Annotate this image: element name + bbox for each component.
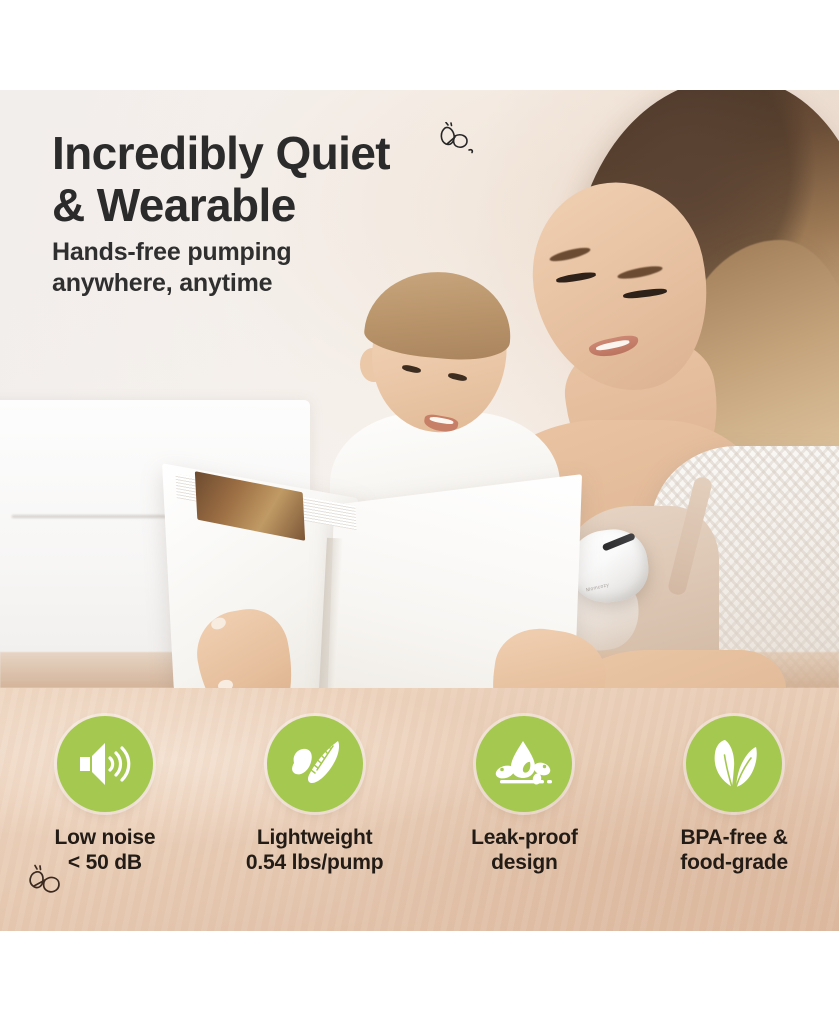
pump-display-slot bbox=[602, 532, 636, 551]
feature-panel: Low noise < 50 dB bbox=[0, 688, 839, 931]
feature-item-bpa-free[interactable]: BPA-free & food-grade bbox=[639, 716, 829, 876]
feature-icon-circle bbox=[267, 716, 363, 812]
butterfly-doodle-icon bbox=[24, 860, 68, 906]
feature-item-leak-proof[interactable]: Leak-proof design bbox=[429, 716, 619, 876]
feature-icon-circle bbox=[686, 716, 782, 812]
butterfly-doodle-icon bbox=[436, 122, 476, 164]
leaf-icon bbox=[706, 737, 762, 791]
product-banner: Momcozy Incredibly Quiet & Wearable Ha bbox=[0, 0, 839, 1024]
headline-block: Incredibly Quiet & Wearable Hands-free p… bbox=[52, 128, 482, 298]
feature-item-lightweight[interactable]: Lightweight 0.54 lbs/pump bbox=[220, 716, 410, 876]
feature-row: Low noise < 50 dB bbox=[0, 716, 839, 876]
page-title: Incredibly Quiet & Wearable bbox=[52, 128, 482, 231]
feature-label: Lightweight 0.54 lbs/pump bbox=[246, 826, 383, 876]
speaker-volume-icon bbox=[76, 739, 134, 789]
top-margin bbox=[0, 0, 839, 90]
feature-icon-circle bbox=[476, 716, 572, 812]
feature-item-low-noise[interactable]: Low noise < 50 dB bbox=[10, 716, 200, 876]
feature-label: Low noise < 50 dB bbox=[54, 826, 155, 876]
headline-line-2: & Wearable bbox=[52, 179, 296, 231]
headline-line-1: Incredibly Quiet bbox=[52, 127, 390, 179]
feather-icon bbox=[286, 737, 344, 791]
page-subtitle: Hands-free pumping anywhere, anytime bbox=[52, 237, 482, 298]
feature-label: BPA-free & food-grade bbox=[680, 826, 788, 876]
subhead-line-2: anywhere, anytime bbox=[52, 269, 272, 297]
water-droplet-splash-icon bbox=[494, 738, 554, 790]
feature-label: Leak-proof design bbox=[471, 826, 578, 876]
feature-icon-circle bbox=[57, 716, 153, 812]
pump-brand-logo: Momcozy bbox=[586, 582, 610, 594]
subhead-line-1: Hands-free pumping bbox=[52, 238, 291, 266]
bottom-margin bbox=[0, 931, 839, 1024]
